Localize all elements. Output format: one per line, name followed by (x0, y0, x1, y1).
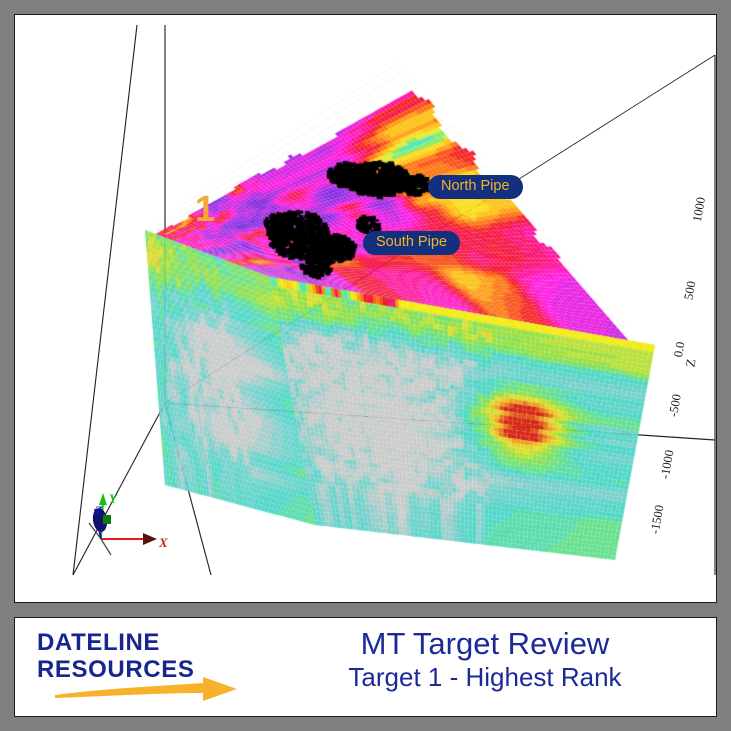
footer-bar: DATELINE RESOURCES MT Target Review Targ… (14, 617, 717, 717)
gizmo-x-label: X (159, 535, 168, 551)
gizmo-z-label: Z (95, 503, 102, 518)
page-subtitle: Target 1 - Highest Rank (265, 662, 705, 692)
gizmo-y-label: Y (109, 491, 117, 507)
model-viewport-frame[interactable]: 1500 1000 500 0.0 -500 -1000 -1500 Z 1 N… (14, 14, 717, 603)
orientation-gizmo[interactable]: X Y Z (73, 483, 185, 569)
slide-root: 1500 1000 500 0.0 -500 -1000 -1500 Z 1 N… (0, 0, 731, 731)
logo-arrow-icon (53, 676, 238, 702)
model-viewport[interactable]: 1500 1000 500 0.0 -500 -1000 -1500 Z 1 N… (15, 15, 716, 602)
target-number-1: 1 (195, 191, 215, 227)
z-tick-500: 500 (681, 280, 699, 301)
page-title: MT Target Review (265, 626, 705, 661)
z-tick-0: 0.0 (671, 341, 688, 359)
footer-titles: MT Target Review Target 1 - Highest Rank (265, 626, 705, 692)
gizmo-axes-icon (73, 483, 185, 569)
annotation-south-pipe[interactable]: South Pipe (363, 231, 460, 255)
logo-line-1: DATELINE (37, 631, 267, 655)
company-logo: DATELINE RESOURCES (37, 631, 267, 682)
annotation-north-pipe[interactable]: North Pipe (428, 175, 523, 199)
